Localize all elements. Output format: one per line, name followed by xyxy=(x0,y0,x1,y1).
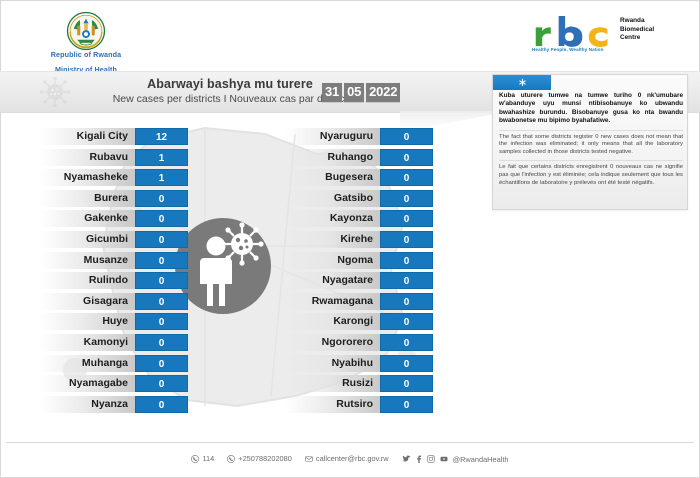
district-name: Musanze xyxy=(40,252,135,269)
district-case-count: 0 xyxy=(380,231,433,248)
district-case-count: 0 xyxy=(380,149,433,166)
footer-social-handle: @RwandaHealth xyxy=(453,455,509,464)
footer-phone-short[interactable]: 114 xyxy=(191,454,214,464)
district-column-left: Kigali City12Rubavu1Nyamasheke1Burera0Ga… xyxy=(40,128,188,416)
district-row: Nyamagabe0 xyxy=(40,375,188,392)
district-row: Nyamasheke1 xyxy=(40,169,188,186)
district-row: Kamonyi0 xyxy=(40,334,188,351)
district-name: Rutsiro xyxy=(285,396,380,413)
note-panel: Kuba uturere tumwe na tumwe turiho 0 nk'… xyxy=(492,74,688,210)
district-case-count: 0 xyxy=(380,252,433,269)
district-case-count: 0 xyxy=(135,375,188,392)
district-name: Gicumbi xyxy=(40,231,135,248)
district-case-count: 0 xyxy=(135,190,188,207)
district-name: Rwamagana xyxy=(285,293,380,310)
district-case-count: 0 xyxy=(135,231,188,248)
instagram-icon[interactable] xyxy=(427,455,435,463)
district-case-count: 0 xyxy=(380,334,433,351)
district-row: Bugesera0 xyxy=(285,169,433,186)
report-date: 31 05 2022 xyxy=(322,83,400,102)
district-name: Gakenke xyxy=(40,210,135,227)
district-name: Rubavu xyxy=(40,149,135,166)
district-name: Nyanza xyxy=(40,396,135,413)
email-icon xyxy=(305,455,313,463)
moh-line-1: Republic of Rwanda xyxy=(38,50,134,59)
district-name: Kirehe xyxy=(285,231,380,248)
rbc-name: Rwanda Biomedical Centre xyxy=(620,17,654,43)
district-row: Muhanga0 xyxy=(40,355,188,372)
district-row: Burera0 xyxy=(40,190,188,207)
district-case-count: 12 xyxy=(135,128,188,145)
district-name: Huye xyxy=(40,313,135,330)
district-row: Ngoma0 xyxy=(285,252,433,269)
rwanda-coat-of-arms-icon xyxy=(64,9,108,53)
district-row: Nyagatare0 xyxy=(285,272,433,289)
district-row: Huye0 xyxy=(40,313,188,330)
note-text-english: The fact that some districts register 0 … xyxy=(499,134,683,157)
district-row: Nyanza0 xyxy=(40,396,188,413)
rbc-logo: Healthy People, Wealthy Nation Rwanda Bi… xyxy=(530,14,680,59)
district-case-count: 0 xyxy=(380,355,433,372)
district-case-count: 0 xyxy=(135,334,188,351)
infographic-page: Republic of Rwanda Ministry of Health He… xyxy=(0,0,700,478)
district-case-count: 0 xyxy=(380,272,433,289)
district-name: Nyagatare xyxy=(285,272,380,289)
district-row: Musanze0 xyxy=(40,252,188,269)
date-month: 05 xyxy=(344,83,364,102)
district-row: Kirehe0 xyxy=(285,231,433,248)
district-case-count: 0 xyxy=(380,396,433,413)
district-case-count: 0 xyxy=(135,272,188,289)
footer-email-text: callcenter@rbc.gov.rw xyxy=(316,454,389,464)
district-row: Gisagara0 xyxy=(40,293,188,310)
district-row: Ruhango0 xyxy=(285,149,433,166)
note-text-french: Le fait que certains districts enregistr… xyxy=(499,164,683,187)
district-name: Ruhango xyxy=(285,149,380,166)
youtube-icon[interactable] xyxy=(440,455,448,463)
district-case-count: 0 xyxy=(135,252,188,269)
coronavirus-icon xyxy=(220,222,263,265)
district-row: Gakenke0 xyxy=(40,210,188,227)
district-name: Nyamasheke xyxy=(40,169,135,186)
district-name: Kigali City xyxy=(40,128,135,145)
district-case-count: 0 xyxy=(380,293,433,310)
rbc-name-line-2: Biomedical xyxy=(620,26,654,35)
district-row: Kigali City12 xyxy=(40,128,188,145)
district-row: Nyabihu0 xyxy=(285,355,433,372)
footer-phone-full[interactable]: +250788202080 xyxy=(227,454,292,464)
district-name: Bugesera xyxy=(285,169,380,186)
date-year: 2022 xyxy=(366,83,400,102)
district-name: Ngororero xyxy=(285,334,380,351)
district-case-count: 0 xyxy=(135,293,188,310)
district-row: Rubavu1 xyxy=(40,149,188,166)
district-case-count: 0 xyxy=(380,128,433,145)
footer-divider xyxy=(6,442,694,443)
facebook-icon[interactable] xyxy=(416,455,422,463)
district-case-count: 0 xyxy=(380,169,433,186)
person-icon xyxy=(175,218,271,314)
district-name: Muhanga xyxy=(40,355,135,372)
district-row: Gicumbi0 xyxy=(40,231,188,248)
footer-phone-short-text: 114 xyxy=(202,454,214,464)
rbc-name-line-1: Rwanda xyxy=(620,17,654,26)
district-name: Karongi xyxy=(285,313,380,330)
district-row: Gatsibo0 xyxy=(285,190,433,207)
district-case-count: 0 xyxy=(135,210,188,227)
district-row: Rulindo0 xyxy=(40,272,188,289)
rbc-wordmark-icon xyxy=(530,14,616,48)
district-name: Burera xyxy=(40,190,135,207)
district-name: Gisagara xyxy=(40,293,135,310)
district-case-count: 0 xyxy=(135,396,188,413)
district-row: Nyaruguru0 xyxy=(285,128,433,145)
district-name: Nyaruguru xyxy=(285,128,380,145)
note-divider-1 xyxy=(499,130,683,131)
note-body: Kuba uturere tumwe na tumwe turiho 0 nk'… xyxy=(499,92,683,187)
rbc-name-line-3: Centre xyxy=(620,34,654,43)
twitter-icon[interactable] xyxy=(402,455,411,463)
note-divider-2 xyxy=(499,160,683,161)
district-row: Rutsiro0 xyxy=(285,396,433,413)
district-name: Kayonza xyxy=(285,210,380,227)
district-case-count: 1 xyxy=(135,169,188,186)
district-row: Kayonza0 xyxy=(285,210,433,227)
note-badge xyxy=(493,75,551,90)
asterisk-icon xyxy=(518,78,527,87)
district-row: Ngororero0 xyxy=(285,334,433,351)
district-name: Rusizi xyxy=(285,375,380,392)
district-case-count: 0 xyxy=(135,355,188,372)
district-case-count: 0 xyxy=(380,190,433,207)
patient-case-icon-badge xyxy=(175,218,271,314)
district-row: Karongi0 xyxy=(285,313,433,330)
phone-icon xyxy=(191,455,199,463)
date-day: 31 xyxy=(322,83,342,102)
district-case-count: 1 xyxy=(135,149,188,166)
district-case-count: 0 xyxy=(380,210,433,227)
district-case-count: 0 xyxy=(380,313,433,330)
footer-phone-full-text: +250788202080 xyxy=(238,454,292,464)
phone-icon xyxy=(227,455,235,463)
district-case-count: 0 xyxy=(135,313,188,330)
district-column-right: Nyaruguru0Ruhango0Bugesera0Gatsibo0Kayon… xyxy=(285,128,433,416)
district-row: Rusizi0 xyxy=(285,375,433,392)
district-name: Nyabihu xyxy=(285,355,380,372)
district-case-count: 0 xyxy=(380,375,433,392)
district-name: Nyamagabe xyxy=(40,375,135,392)
district-row: Rwamagana0 xyxy=(285,293,433,310)
note-text-kinyarwanda: Kuba uturere tumwe na tumwe turiho 0 nk'… xyxy=(499,92,683,126)
rbc-tagline: Healthy People, Wealthy Nation xyxy=(532,47,604,52)
district-name: Rulindo xyxy=(40,272,135,289)
footer-social: @RwandaHealth xyxy=(402,455,509,464)
footer: 114 +250788202080 callcenter@rbc.gov.rw xyxy=(0,449,700,469)
footer-email[interactable]: callcenter@rbc.gov.rw xyxy=(305,454,389,464)
district-name: Ngoma xyxy=(285,252,380,269)
ministry-of-health-logo: Republic of Rwanda Ministry of Health xyxy=(38,9,134,67)
district-name: Gatsibo xyxy=(285,190,380,207)
district-name: Kamonyi xyxy=(40,334,135,351)
